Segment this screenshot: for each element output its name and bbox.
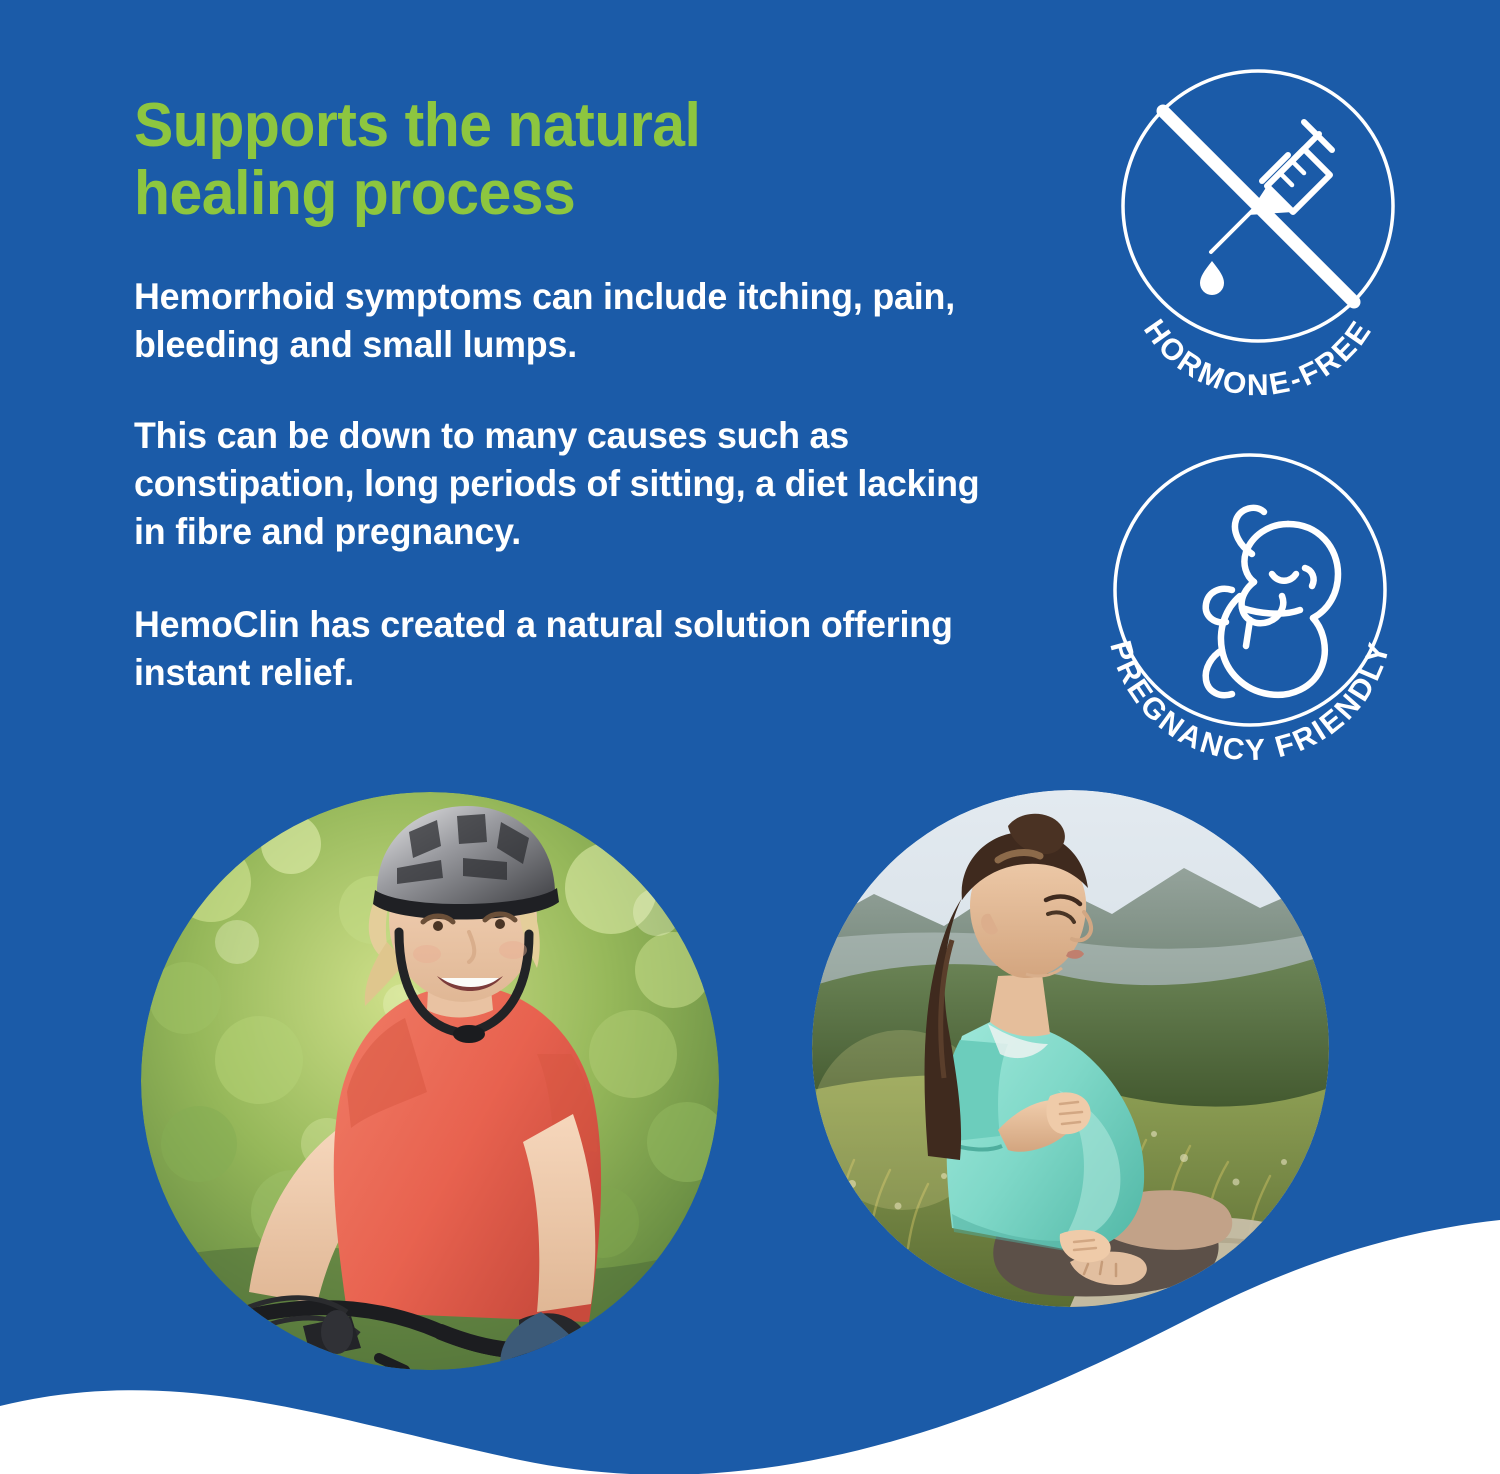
paragraph-symptoms: Hemorrhoid symptoms can include itching,…	[134, 273, 994, 368]
photo-cyclist	[141, 792, 719, 1370]
paragraph-solution: HemoClin has created a natural solution …	[134, 601, 994, 696]
page-title: Supports the natural healing process	[134, 92, 989, 227]
badge-hormone-free-label: HORMONE-FREE	[1137, 314, 1379, 402]
droplet-icon	[1200, 261, 1224, 295]
fetus-icon	[1206, 508, 1338, 695]
badge-pregnancy-friendly: PREGNANCY FRIENDLY	[1100, 450, 1400, 810]
copy-block: Supports the natural healing process Hem…	[134, 92, 1034, 697]
photo-pregnant-woman	[812, 790, 1329, 1307]
promo-banner: Supports the natural healing process Hem…	[0, 0, 1500, 1474]
badge-pregnancy-friendly-label: PREGNANCY FRIENDLY	[1103, 637, 1397, 767]
paragraph-causes: This can be down to many causes such as …	[134, 412, 994, 555]
badge-hormone-free: HORMONE-FREE	[1108, 58, 1408, 418]
